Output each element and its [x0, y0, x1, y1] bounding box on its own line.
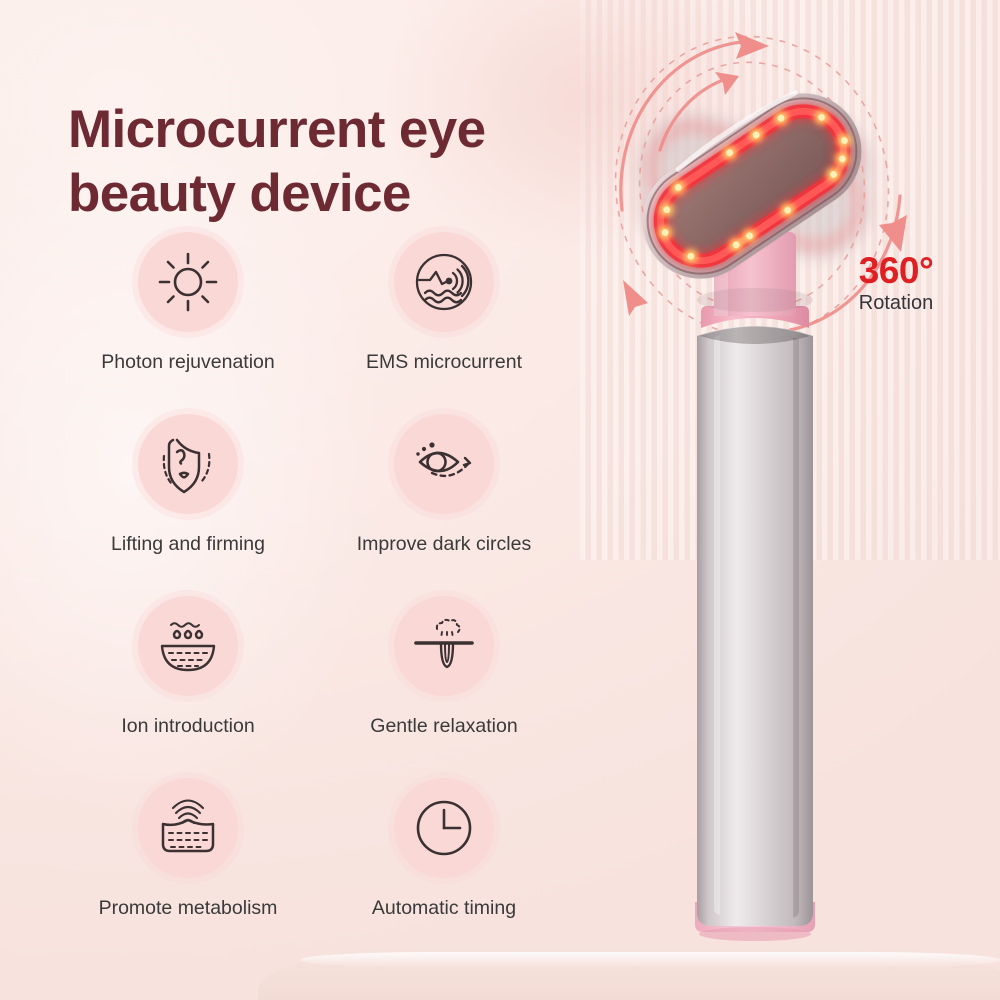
- feature-label: Promote metabolism: [99, 897, 278, 920]
- eye-icon: [410, 435, 478, 493]
- rotation-caption: Rotation: [836, 293, 956, 313]
- feature-icon-disc: [138, 778, 238, 878]
- feature-label: Photon rejuvenation: [101, 351, 274, 374]
- rotation-degrees: 360°: [836, 252, 956, 289]
- title-line-1: Microcurrent eye: [68, 100, 486, 159]
- feature-row: Promote metabolism Automatic timing: [60, 778, 580, 960]
- feature-label: EMS microcurrent: [366, 351, 522, 374]
- clock-icon: [413, 797, 475, 859]
- feature-icon-disc: [138, 596, 238, 696]
- feature-item-improve-dark-circles[interactable]: Improve dark circles: [316, 414, 572, 596]
- page-title: Microcurrent eye beauty device: [68, 98, 628, 226]
- feature-icon-disc: [138, 414, 238, 514]
- feature-item-lifting-and-firming[interactable]: Lifting and firming: [60, 414, 316, 596]
- product-infographic: Microcurrent eye beauty device: [0, 0, 1000, 1000]
- skin-waves-icon: [155, 798, 221, 858]
- feature-row: Photon rejuvenation: [60, 232, 580, 414]
- feature-icon-disc: [394, 414, 494, 514]
- feature-label: Lifting and firming: [111, 533, 265, 556]
- feature-grid: Photon rejuvenation: [60, 232, 580, 960]
- feature-icon-disc: [394, 232, 494, 332]
- sun-icon: [157, 251, 219, 313]
- feature-label: Ion introduction: [121, 715, 254, 738]
- feature-row: Ion introduction: [60, 596, 580, 778]
- feature-label: Automatic timing: [372, 897, 516, 920]
- feature-item-automatic-timing[interactable]: Automatic timing: [316, 778, 572, 960]
- feature-item-ion-introduction[interactable]: Ion introduction: [60, 596, 316, 778]
- feature-row: Lifting and firming: [60, 414, 580, 596]
- face-profile-icon: [157, 432, 219, 496]
- water-bowl-icon: [155, 616, 221, 676]
- feature-item-promote-metabolism[interactable]: Promote metabolism: [60, 778, 316, 960]
- feature-label: Gentle relaxation: [370, 715, 517, 738]
- title-line-2: beauty device: [68, 162, 628, 226]
- feature-icon-disc: [138, 232, 238, 332]
- feature-icon-disc: [394, 778, 494, 878]
- pore-follicle-icon: [411, 615, 477, 677]
- wave-signal-icon: [412, 250, 476, 314]
- feature-item-gentle-relaxation[interactable]: Gentle relaxation: [316, 596, 572, 778]
- feature-item-ems-microcurrent[interactable]: EMS microcurrent: [316, 232, 572, 414]
- feature-item-photon-rejuvenation[interactable]: Photon rejuvenation: [60, 232, 316, 414]
- feature-label: Improve dark circles: [357, 533, 531, 556]
- feature-icon-disc: [394, 596, 494, 696]
- rotation-badge: 360° Rotation: [836, 252, 956, 313]
